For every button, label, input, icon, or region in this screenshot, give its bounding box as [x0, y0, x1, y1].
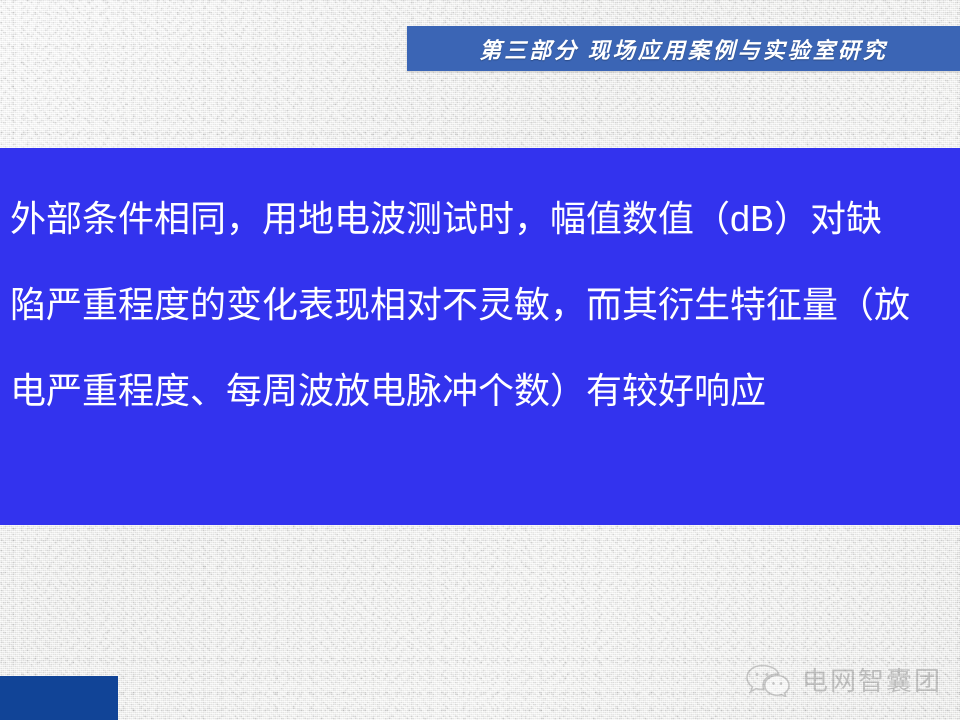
- wechat-icon: [746, 663, 790, 697]
- content-paragraph: 外部条件相同，用地电波测试时，幅值数值（dB）对缺 陷严重程度的变化表现相对不灵…: [0, 176, 960, 434]
- watermark: 电网智囊团: [746, 661, 942, 698]
- content-line-3: 电严重程度、每周波放电脉冲个数）有较好响应: [0, 348, 960, 434]
- content-line-2: 陷严重程度的变化表现相对不灵敏，而其衍生特征量（放: [0, 262, 960, 348]
- watermark-label: 电网智囊团: [802, 661, 942, 698]
- header-banner-title: 第三部分 现场应用案例与实验室研究: [479, 33, 888, 65]
- header-banner: 第三部分 现场应用案例与实验室研究: [407, 26, 960, 71]
- corner-tab-block: [0, 676, 118, 720]
- slide-canvas: 第三部分 现场应用案例与实验室研究 外部条件相同，用地电波测试时，幅值数值（dB…: [0, 0, 960, 720]
- main-content-block: 外部条件相同，用地电波测试时，幅值数值（dB）对缺 陷严重程度的变化表现相对不灵…: [0, 148, 960, 525]
- content-line-1: 外部条件相同，用地电波测试时，幅值数值（dB）对缺: [0, 176, 960, 262]
